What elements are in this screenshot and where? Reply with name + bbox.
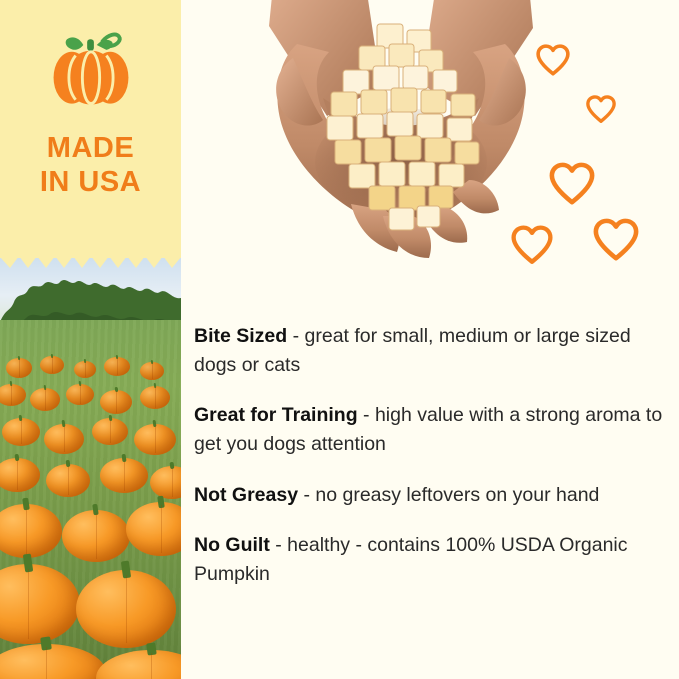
- pumpkin: [2, 418, 40, 446]
- bullet-item: Bite Sized - great for small, medium or …: [194, 322, 664, 379]
- pumpkin: [46, 464, 90, 497]
- pumpkin: [100, 458, 148, 493]
- feature-bullet-list: Bite Sized - great for small, medium or …: [194, 322, 664, 611]
- bullet-item: No Guilt - healthy - contains 100% USDA …: [194, 531, 664, 588]
- heart-icon: [549, 162, 595, 208]
- product-infographic: MADE IN USA: [0, 0, 679, 679]
- bullet-item: Not Greasy - no greasy leftovers on your…: [194, 481, 664, 510]
- badge-content: MADE IN USA: [0, 22, 181, 199]
- badge-text: MADE IN USA: [0, 132, 181, 199]
- pumpkin: [100, 390, 132, 414]
- pumpkin: [44, 424, 84, 454]
- bullet-title: No Guilt: [194, 534, 270, 556]
- pumpkin-icon: [43, 22, 139, 118]
- bullet-title: Great for Training: [194, 404, 358, 426]
- pumpkin: [40, 356, 64, 374]
- pumpkin-patch-photo: [0, 258, 181, 679]
- left-column: MADE IN USA: [0, 0, 181, 679]
- bullet-text: - no greasy leftovers on your hand: [298, 484, 599, 506]
- pumpkin: [66, 384, 94, 405]
- heart-icon: [511, 225, 553, 267]
- heart-icon: [593, 218, 639, 264]
- badge-line-1: MADE: [47, 132, 134, 164]
- pumpkin: [30, 388, 60, 411]
- bullet-title: Not Greasy: [194, 484, 298, 506]
- pumpkin: [6, 358, 32, 378]
- pumpkin: [140, 386, 170, 409]
- pumpkin: [140, 362, 164, 380]
- bullet-title: Bite Sized: [194, 325, 287, 347]
- made-in-usa-badge: MADE IN USA: [0, 0, 181, 258]
- pumpkin: [76, 570, 176, 648]
- pumpkin: [134, 424, 176, 455]
- pumpkin: [92, 418, 128, 445]
- heart-icon: [586, 95, 616, 125]
- bullet-item: Great for Training - high value with a s…: [194, 401, 664, 458]
- pumpkin: [74, 361, 96, 378]
- pumpkin: [104, 357, 130, 376]
- badge-line-2: IN USA: [0, 166, 181, 200]
- pumpkin: [62, 510, 130, 562]
- heart-icon: [536, 44, 570, 78]
- zigzag-divider: [0, 248, 181, 270]
- hero-photo: [181, 0, 679, 305]
